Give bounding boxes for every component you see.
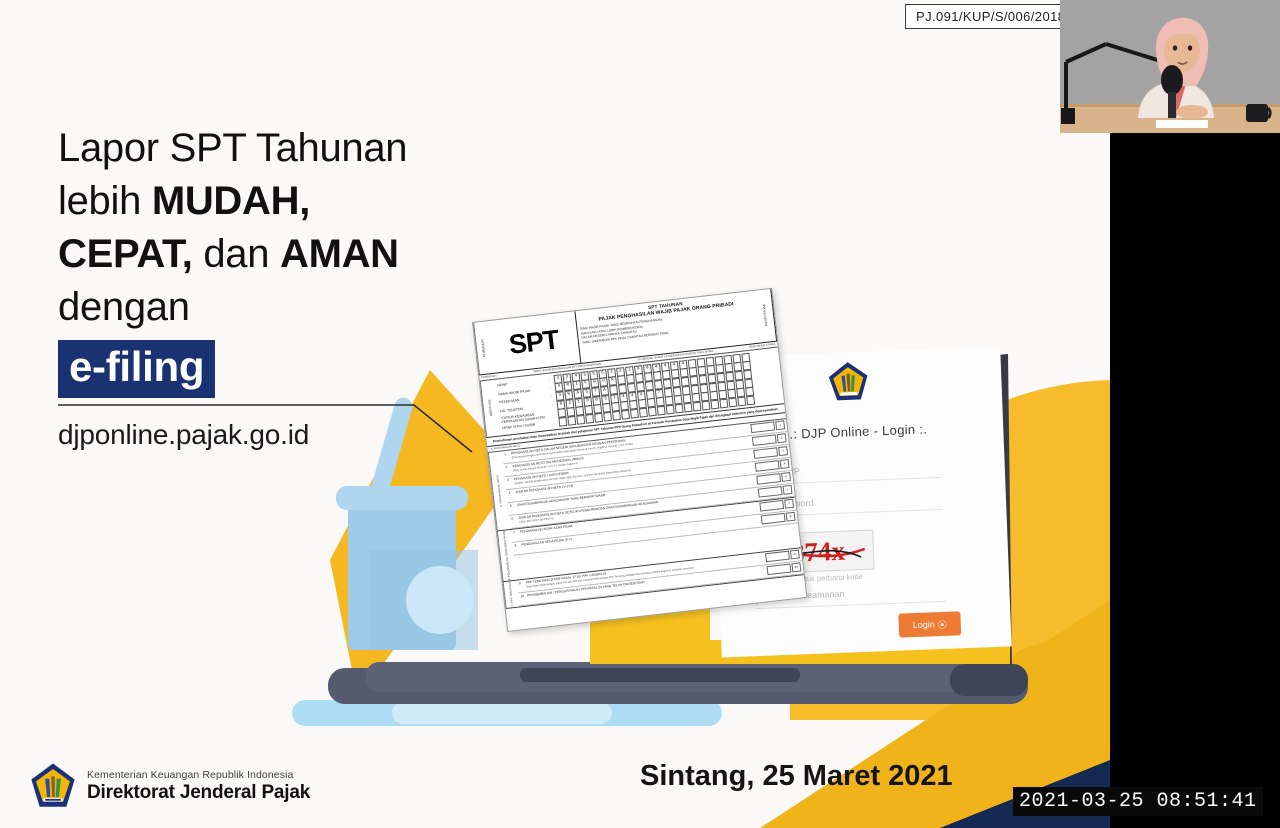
headline-line3-bold1: CEPAT,	[58, 232, 193, 276]
headline-line3-mid: dan	[193, 232, 280, 276]
headline-line-2: lebih MUDAH,	[58, 175, 528, 228]
footer-location-date: Sintang, 25 Maret 2021	[640, 760, 953, 793]
document-code-badge: PJ.091/KUP/S/006/2018	[905, 4, 1076, 29]
letterbox-bar-right	[1110, 133, 1280, 828]
microphone-head	[1161, 65, 1183, 95]
headline-line3-bold2: AMAN	[280, 232, 399, 276]
headline: Lapor SPT Tahunan lebih MUDAH, CEPAT, da…	[58, 122, 528, 398]
headline-line-3: CEPAT, dan AMAN	[58, 228, 528, 281]
logo-ministry-text: Kementerian Keuangan Republik Indonesia	[87, 769, 310, 781]
djponline-url: djponline.pajak.go.id	[58, 419, 309, 451]
djp-logo-block: Kementerian Keuangan Republik Indonesia …	[30, 762, 310, 810]
headline-line2-prefix: lebih	[58, 179, 152, 223]
recording-timestamp: 2021-03-25 08:51:41	[1013, 787, 1263, 816]
screen-recording-frame: .: DJP Online - Login :. NPWP Password p…	[0, 0, 1280, 828]
efiling-highlight: e-filing	[58, 340, 215, 398]
logo-directorate-text: Direktorat Jenderal Pajak	[87, 782, 310, 804]
djp-logo-icon	[30, 762, 76, 810]
presenter-webcam-feed	[1060, 0, 1280, 133]
headline-line-4: dengan	[58, 281, 528, 334]
coffee-mug	[1246, 104, 1268, 122]
webcam-presenter-graphic	[1060, 0, 1280, 133]
headline-line-1: Lapor SPT Tahunan	[58, 122, 528, 175]
headline-line2-bold: MUDAH,	[152, 179, 310, 223]
presentation-slide: .: DJP Online - Login :. NPWP Password p…	[0, 0, 1110, 828]
